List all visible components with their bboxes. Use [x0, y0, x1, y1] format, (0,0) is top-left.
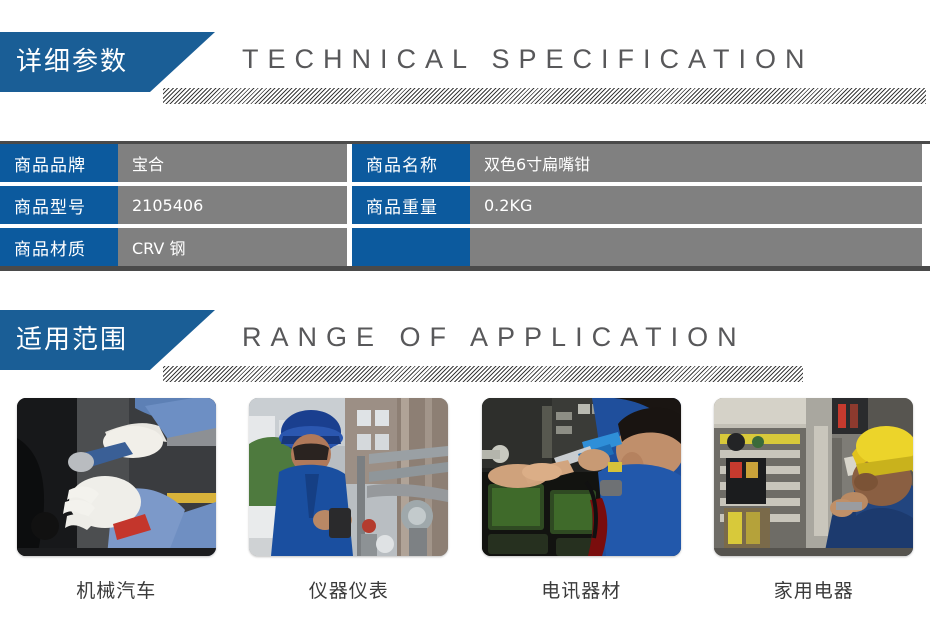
table-row: 商品型号 2105406 商品重量 0.2KG [0, 186, 930, 224]
spec-label-material: 商品材质 [0, 228, 118, 266]
spec-value-empty [470, 228, 922, 266]
gallery-item: 机械汽车 [0, 398, 233, 603]
spec-label-empty [352, 228, 470, 266]
table-row: 商品材质 CRV 钢 [0, 228, 930, 266]
hatch-stripe-application [163, 366, 803, 382]
section-title-en-application: RANGE OF APPLICATION [242, 322, 746, 353]
gallery-caption: 仪器仪表 [309, 576, 389, 603]
spec-label-brand: 商品品牌 [0, 144, 118, 182]
hatch-stripe-technical [163, 88, 926, 104]
section-title-cn-technical: 详细参数 [0, 49, 128, 75]
home-appliances-photo [714, 398, 913, 556]
instruments-meters-photo [249, 398, 448, 556]
gallery-item: 家用电器 [698, 398, 930, 603]
gallery-caption: 机械汽车 [76, 576, 156, 603]
product-detail-page: 详细参数 TECHNICAL SPECIFICATION 商品品牌 宝合 商品名… [0, 0, 930, 635]
gallery-item: 仪器仪表 [233, 398, 466, 603]
section-title-cn-application: 适用范围 [0, 327, 128, 353]
application-gallery: 机械汽车 [0, 398, 930, 603]
section-banner-application: 适用范围 [0, 310, 215, 370]
telecom-equipment-photo [482, 398, 681, 556]
spec-value-model: 2105406 [118, 186, 347, 224]
spec-value-brand: 宝合 [118, 144, 347, 182]
mechanical-automotive-photo [17, 398, 216, 556]
spec-label-weight: 商品重量 [352, 186, 470, 224]
spec-value-material: CRV 钢 [118, 228, 347, 266]
spec-label-product-name: 商品名称 [352, 144, 470, 182]
section-title-en-technical: TECHNICAL SPECIFICATION [242, 44, 814, 75]
spec-label-model: 商品型号 [0, 186, 118, 224]
spec-value-weight: 0.2KG [470, 186, 922, 224]
gallery-caption: 电讯器材 [541, 576, 621, 603]
section-header-range-of-application: 适用范围 RANGE OF APPLICATION [0, 310, 930, 388]
gallery-caption: 家用电器 [774, 576, 854, 603]
section-banner-technical: 详细参数 [0, 32, 215, 92]
specification-table: 商品品牌 宝合 商品名称 双色6寸扁嘴钳 商品型号 2105406 商品重量 0… [0, 141, 930, 271]
spec-value-product-name: 双色6寸扁嘴钳 [470, 144, 922, 182]
section-header-technical-specification: 详细参数 TECHNICAL SPECIFICATION [0, 32, 930, 110]
gallery-item: 电讯器材 [465, 398, 698, 603]
table-row: 商品品牌 宝合 商品名称 双色6寸扁嘴钳 [0, 144, 930, 182]
